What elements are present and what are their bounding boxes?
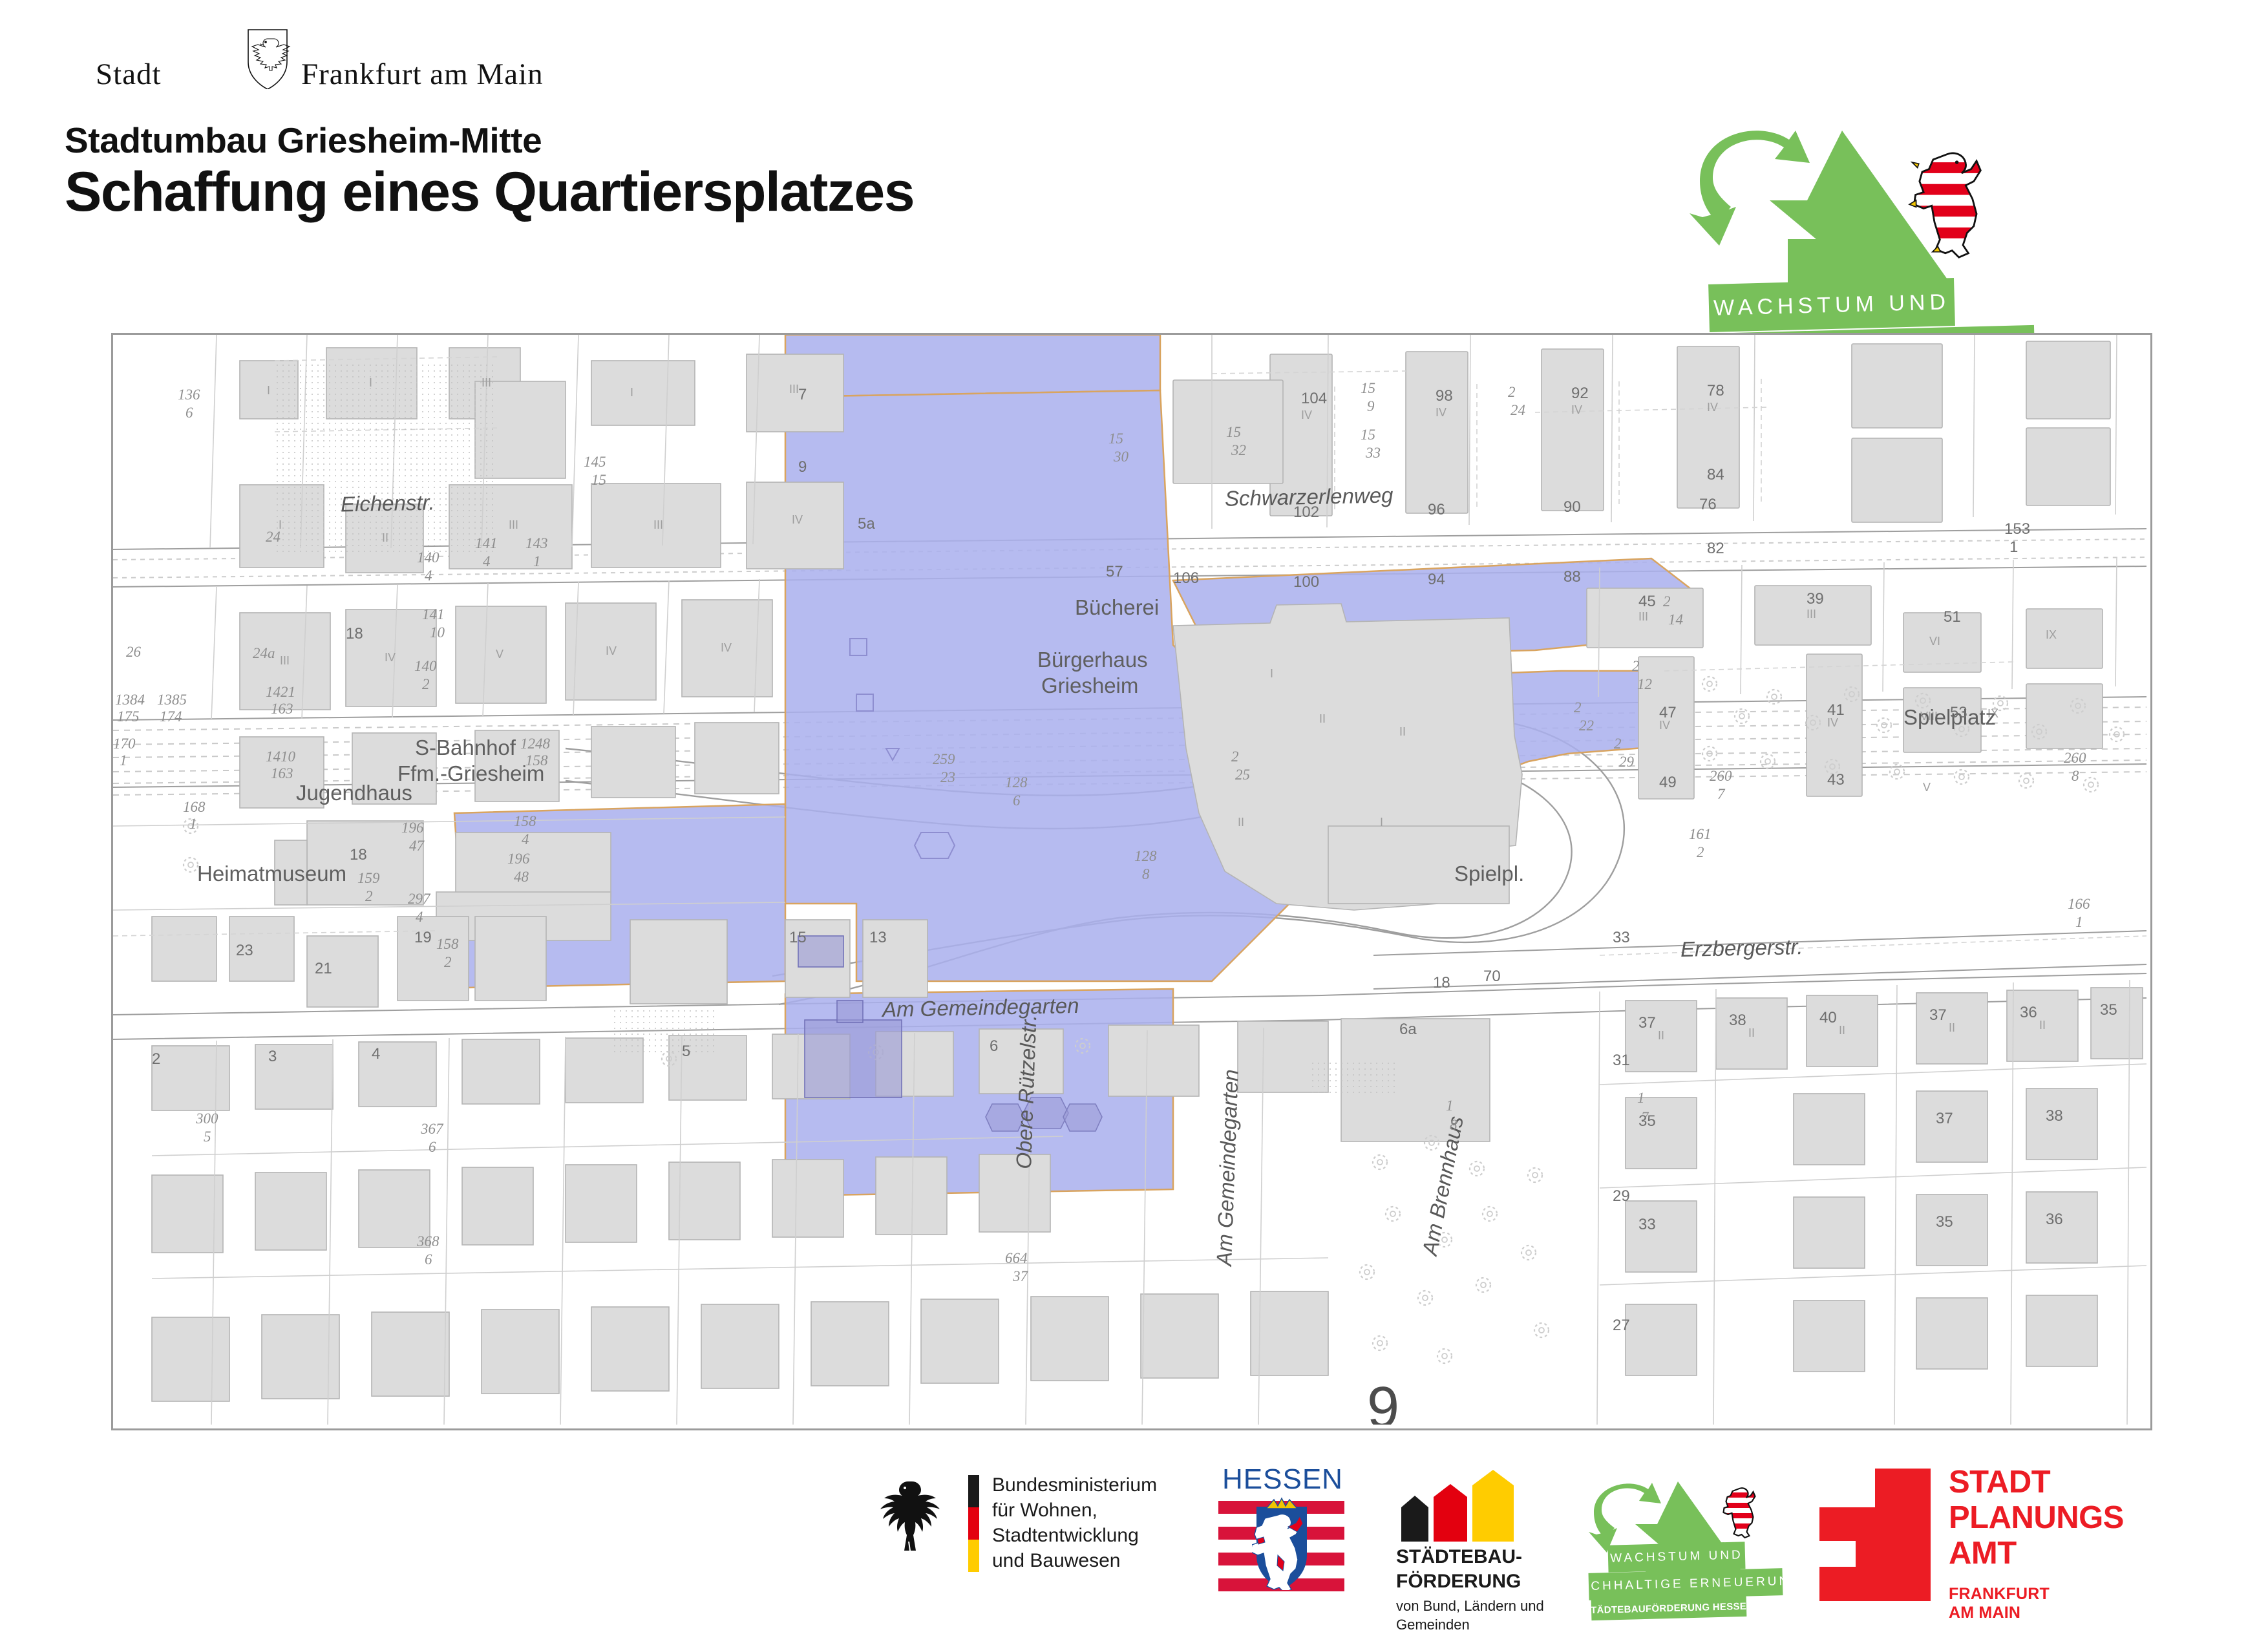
svg-text:I: I <box>1270 667 1273 680</box>
poi-label-buergerhaus: Bürgerhaus <box>1037 648 1148 672</box>
svg-text:I: I <box>267 384 270 397</box>
svg-text:IX: IX <box>2046 628 2057 641</box>
stadtplanungsamt-line3: AMT <box>1949 1536 2124 1571</box>
svg-text:II: II <box>1658 1029 1664 1042</box>
bmwsb-label: Bundesministerium für Wohnen, Stadtentwi… <box>992 1472 1157 1573</box>
svg-text:II: II <box>1839 1024 1845 1037</box>
svg-text:III: III <box>482 376 491 389</box>
hessen-logo: HESSEN <box>1218 1463 1344 1593</box>
svg-text:III: III <box>509 518 518 531</box>
svg-text:II: II <box>1319 712 1326 725</box>
svg-text:III: III <box>1638 610 1648 623</box>
bmwsb-line3: und Bauwesen <box>992 1548 1157 1573</box>
svg-text:V: V <box>496 648 503 661</box>
svg-text:I: I <box>1380 816 1383 829</box>
svg-text:IV: IV <box>1707 401 1718 414</box>
frankfurt-eagle-crest-icon <box>244 27 291 89</box>
staedtebau-label: STÄDTEBAU- FÖRDERUNG <box>1396 1545 1522 1594</box>
svg-text:IV: IV <box>1301 408 1312 421</box>
wachstum-footer-band-1: WACHSTUM UND <box>1607 1542 1745 1573</box>
svg-text:IV: IV <box>792 513 803 526</box>
poi-label-griesheim: Griesheim <box>1041 674 1138 698</box>
svg-text:III: III <box>280 654 290 667</box>
svg-text:II: II <box>1748 1026 1755 1039</box>
street-label-erzbergerstr: Erzbergerstr. <box>1680 935 1803 962</box>
svg-text:II: II <box>1399 725 1406 738</box>
page-header: Stadt Frankfurt am Main Stadtumbau Gries… <box>0 0 2268 310</box>
svg-text:II: II <box>1949 1021 1955 1034</box>
poi-label-s-bahnhof: S-Bahnhof <box>415 736 516 760</box>
wachstum-footer-band-2: NACHHALTIGE ERNEUERUNG <box>1589 1568 1783 1600</box>
stadtplanungsamt-label: STADT PLANUNGS AMT <box>1949 1465 2124 1571</box>
hessen-label: HESSEN <box>1222 1463 1343 1496</box>
page-title: Schaffung eines Quartiersplatzes <box>65 160 914 224</box>
hessen-lion-icon <box>1908 153 1997 257</box>
street-label-schwarzerlenweg: Schwarzerlenweg <box>1225 483 1394 511</box>
svg-text:III: III <box>789 383 799 396</box>
bundesadler-icon <box>860 1470 957 1576</box>
bmwsb-line1: Bundesministerium <box>992 1472 1157 1498</box>
page-footer: Bundesministerium für Wohnen, Stadtentwi… <box>0 1454 2268 1603</box>
svg-text:IV: IV <box>606 644 617 657</box>
street-label-am-gemeindegarten: Am Gemeindegarten <box>882 993 1079 1022</box>
stadtplanungsamt-mark-icon <box>1819 1469 1931 1601</box>
hessen-lion-icon <box>1721 1488 1763 1538</box>
bmwsb-line2: für Wohnen, Stadtentwicklung <box>992 1498 1157 1548</box>
stadtplanungsamt-line1: STADT <box>1949 1465 2124 1500</box>
svg-text:I: I <box>630 386 633 399</box>
svg-text:IV: IV <box>385 651 396 664</box>
poi-label-jugendhaus: Jugendhaus <box>296 781 412 805</box>
hessen-coat-of-arms-icon <box>1252 1493 1311 1590</box>
poi-label-spielplatz: Spielplatz <box>1903 705 1996 730</box>
svg-text:I: I <box>369 376 372 389</box>
poi-label-ffm-griesheim: Ffm.-Griesheim <box>397 761 544 786</box>
stadtplanungsamt-sublabel: FRANKFURT AM MAIN <box>1949 1585 2050 1622</box>
svg-text:IV: IV <box>721 641 732 654</box>
svg-text:IV: IV <box>1827 716 1838 729</box>
staedtebau-line1: STÄDTEBAU- <box>1396 1545 1522 1569</box>
poi-label-heimatmuseum: Heimatmuseum <box>197 862 346 886</box>
poi-label-buecherei: Bücherei <box>1075 595 1159 620</box>
staedtebau-line2: FÖRDERUNG <box>1396 1569 1522 1594</box>
staedtebau-sublabel: von Bund, Ländern und Gemeinden <box>1396 1597 1544 1634</box>
svg-text:IV: IV <box>1436 406 1447 419</box>
staedtebau-sub2: Gemeinden <box>1396 1615 1544 1634</box>
svg-text:II: II <box>1238 816 1244 829</box>
three-houses-icon <box>1396 1467 1545 1542</box>
cadastral-map[interactable]: II III IIIIII IIII IIIIV IIIIV VIV IV IV… <box>111 333 2152 1430</box>
bmwsb-logo: Bundesministerium für Wohnen, Stadtentwi… <box>860 1470 957 1580</box>
project-subtitle: Stadtumbau Griesheim-Mitte <box>65 120 542 161</box>
svg-text:IV: IV <box>1571 403 1582 416</box>
svg-text:II: II <box>2039 1019 2046 1032</box>
city-logo-word2: Frankfurt am Main <box>301 57 544 92</box>
wachstum-band-1: WACHSTUM UND <box>1708 278 1955 332</box>
wachstum-footer-band-3: STÄDTEBAUFÖRDERUNG HESSEN <box>1591 1596 1747 1620</box>
svg-text:II: II <box>382 531 388 544</box>
german-flag-bar <box>968 1475 979 1572</box>
svg-text:IV: IV <box>1659 719 1670 732</box>
staedtebau-sub1: von Bund, Ländern und <box>1396 1597 1544 1615</box>
svg-text:VI: VI <box>1929 635 1940 648</box>
street-label-eichenstr: Eichenstr. <box>341 490 435 516</box>
poi-label-spielpl: Spielpl. <box>1454 862 1524 886</box>
stadtplanungsamt-line2: PLANUNGS <box>1949 1500 2124 1536</box>
svg-text:V: V <box>1923 781 1931 794</box>
city-logo: Stadt Frankfurt am Main <box>96 34 509 92</box>
city-logo-word1: Stadt <box>96 57 162 92</box>
svg-text:III: III <box>1807 608 1816 621</box>
svg-text:I: I <box>279 518 282 531</box>
svg-text:III: III <box>653 518 663 531</box>
